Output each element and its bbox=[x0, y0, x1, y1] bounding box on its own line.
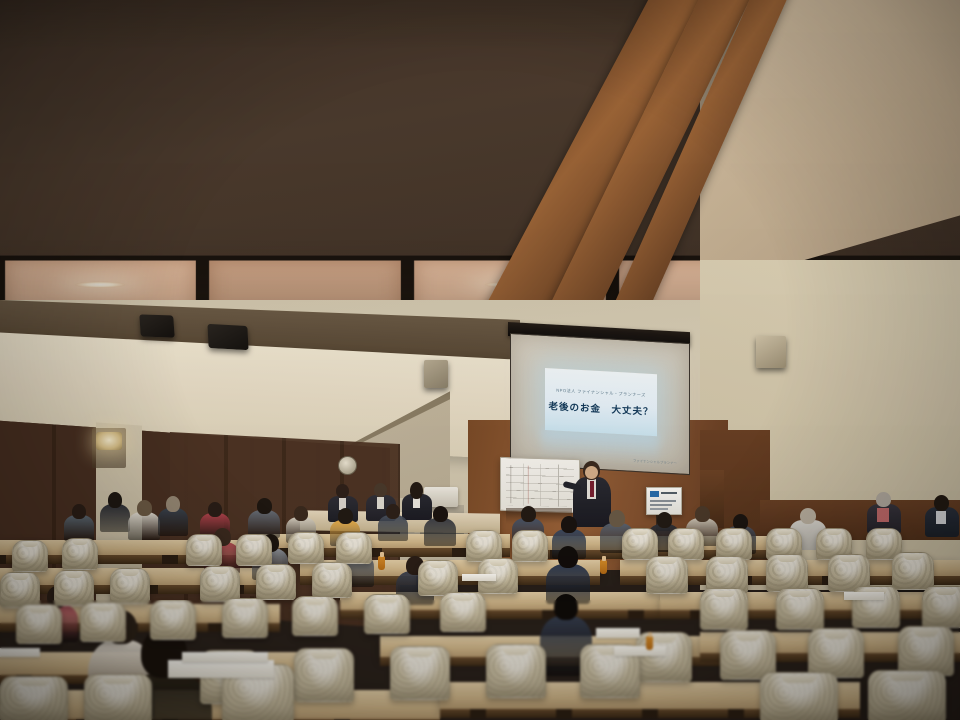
seminar-hall-photo: NPO法人 ファイナンシャル・プランナーズ 老後のお金 大丈夫？ ファイナンシャ… bbox=[0, 0, 960, 720]
paper-handout bbox=[0, 648, 40, 657]
paper-handout bbox=[462, 574, 496, 581]
drink-bottle bbox=[646, 636, 653, 650]
paper-handout bbox=[614, 646, 666, 656]
paper-handout bbox=[844, 592, 884, 600]
paper-handout bbox=[596, 628, 640, 638]
drink-bottle bbox=[378, 556, 385, 570]
paper-handout bbox=[168, 660, 274, 678]
table-objects bbox=[0, 0, 960, 720]
drink-bottle bbox=[600, 560, 607, 574]
paper-handout bbox=[182, 652, 268, 662]
